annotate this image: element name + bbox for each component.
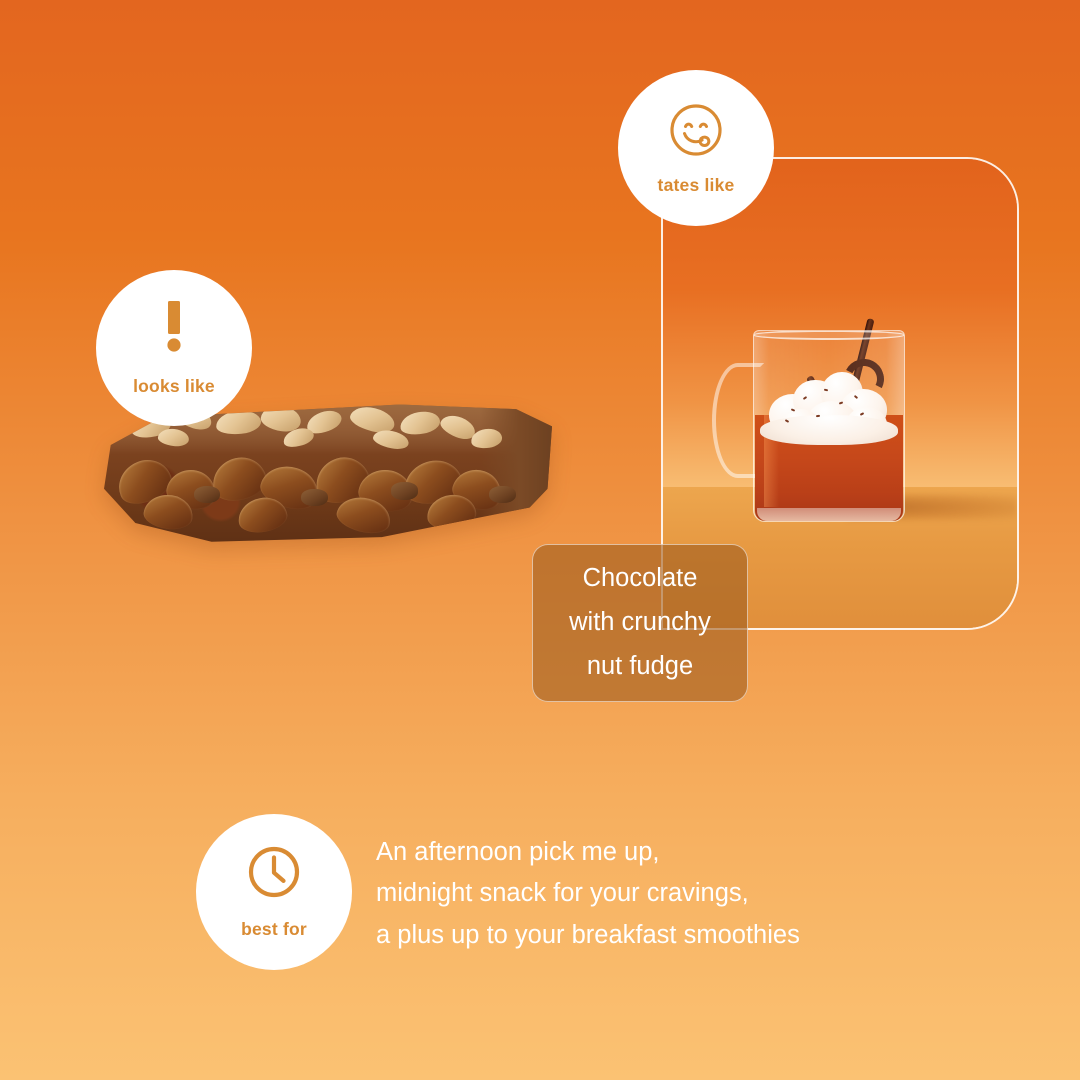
hot-chocolate-mug	[753, 330, 905, 522]
mug-glass-body	[753, 330, 905, 522]
best-for-line-3: a plus up to your breakfast smoothies	[376, 915, 936, 956]
badge-looks-like-label: looks like	[133, 376, 215, 397]
badge-tastes-like: tates like	[618, 70, 774, 226]
smiley-tongue-icon	[667, 101, 725, 164]
mug-rim	[753, 330, 905, 340]
best-for-line-2: midnight snack for your cravings,	[376, 873, 936, 914]
flavour-description-text: Chocolate with crunchy nut fudge	[569, 557, 711, 689]
flavour-line-3: nut fudge	[569, 645, 711, 689]
flavour-line-1: Chocolate	[569, 557, 711, 601]
flavour-description-card: Chocolate with crunchy nut fudge	[532, 544, 748, 702]
badge-looks-like: looks like	[96, 270, 252, 426]
clock-icon	[246, 844, 302, 905]
flavour-line-2: with crunchy	[569, 601, 711, 645]
exclamation-icon	[160, 299, 188, 360]
badge-best-for: best for	[196, 814, 352, 970]
mug-base	[757, 508, 901, 521]
best-for-line-1: An afternoon pick me up,	[376, 832, 936, 873]
product-feature-poster: tates like looks like best for Chocolate…	[0, 0, 1080, 1080]
best-for-description: An afternoon pick me up, midnight snack …	[376, 832, 936, 956]
badge-tastes-like-label: tates like	[658, 175, 735, 196]
nut-bar-chocolate-end	[480, 398, 552, 542]
whipped-cream-topping	[760, 365, 898, 445]
badge-best-for-label: best for	[241, 919, 307, 940]
